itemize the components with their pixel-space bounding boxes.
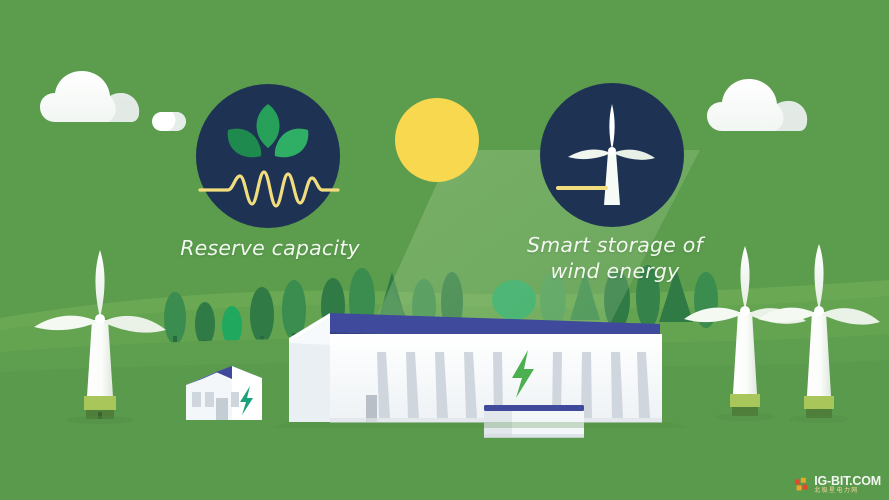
watermark: IG-BIT.COM 北极星电力网 [794,475,881,495]
house-window-left [192,392,201,407]
watermark-domain: IG-BIT.COM [814,475,881,488]
house-door [216,398,228,420]
illustration-canvas: Reserve capacity Smart storage of wind e… [0,0,889,500]
shadow-turbine-front [789,415,849,423]
house-window-right [231,392,239,407]
shadow-warehouse [270,422,690,428]
scene-artwork [0,0,889,500]
reserve-capacity-icon [196,84,340,228]
battery-container [484,405,584,438]
wind-energy-icon [540,83,684,227]
warehouse [289,313,662,423]
shadow-turbine-left [66,416,134,424]
ig-bit-logo-icon [794,476,811,493]
shadow-turbine-back [715,413,775,421]
warehouse-door [366,395,377,422]
small-cloud-left [152,112,186,131]
watermark-subtitle: 北极星电力网 [814,488,881,494]
sun [395,98,479,182]
house-window-mid [205,392,214,407]
